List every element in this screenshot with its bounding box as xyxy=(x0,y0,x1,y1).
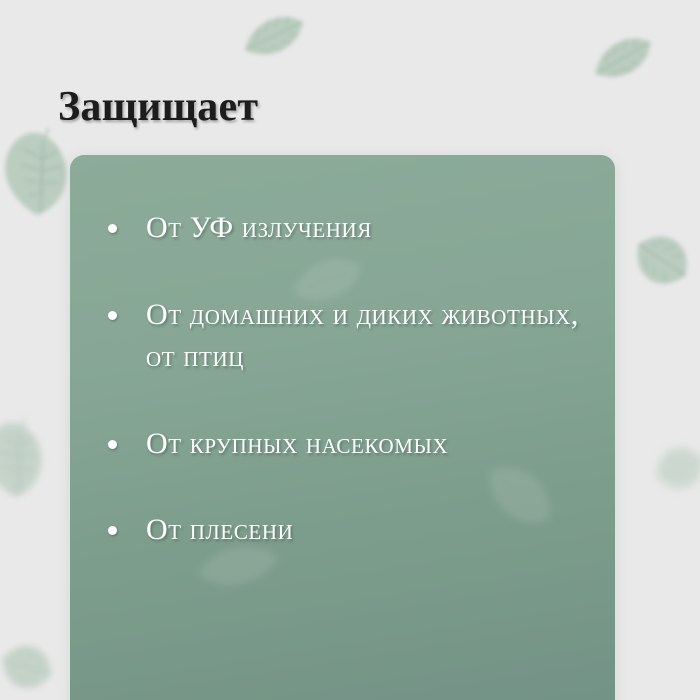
bullet-point-icon xyxy=(108,526,117,535)
bullet-point-icon xyxy=(108,440,117,449)
list-item-label: От домашних и диких животных, от птиц xyxy=(146,298,579,374)
leaf-icon xyxy=(628,218,696,302)
leaf-icon xyxy=(0,416,50,500)
leaf-icon xyxy=(648,430,700,506)
list-item: От крупных насекомых xyxy=(100,423,581,466)
list-item: От УФ излучения xyxy=(100,207,581,250)
benefits-list: От УФ излучения От домашних и диких живо… xyxy=(70,155,615,552)
page-title: Защищает xyxy=(58,83,258,131)
leaf-icon xyxy=(0,628,60,700)
benefits-card: От УФ излучения От домашних и диких живо… xyxy=(70,155,615,700)
leaf-icon xyxy=(586,26,660,90)
leaf-icon xyxy=(0,126,76,218)
bullet-point-icon xyxy=(108,311,117,320)
bullet-point-icon xyxy=(108,224,117,233)
slide-canvas: Защищает От УФ излучения xyxy=(0,0,700,700)
list-item-label: От УФ излучения xyxy=(146,211,372,244)
list-item: От домашних и диких животных, от птиц xyxy=(100,294,581,379)
list-item: От плесени xyxy=(100,509,581,552)
list-item-label: От крупных насекомых xyxy=(146,427,448,460)
leaf-icon xyxy=(236,6,312,66)
list-item-label: От плесени xyxy=(146,513,293,546)
